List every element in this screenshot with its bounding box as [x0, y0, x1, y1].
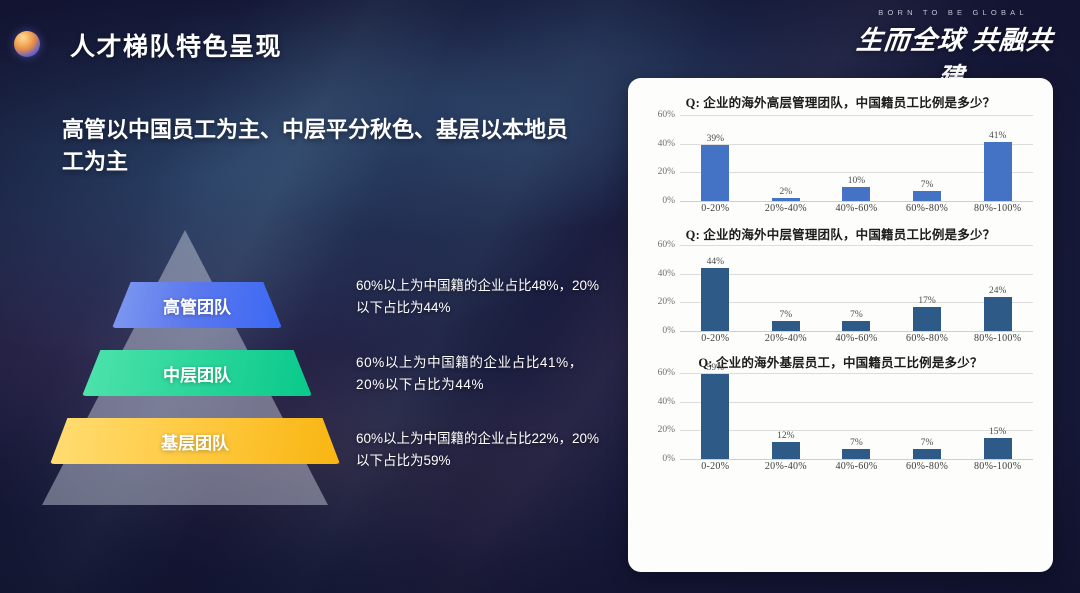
chart-x-tick: 80%-100% — [962, 333, 1033, 344]
chart-bars: 44%7%7%17%24% — [680, 245, 1033, 331]
chart-bar-value-label: 12% — [756, 431, 816, 441]
chart-x-tick: 80%-100% — [962, 203, 1033, 214]
chart-bar-value-label: 24% — [968, 286, 1028, 296]
chart-x-tick: 40%-60% — [821, 461, 892, 472]
chart-bar[interactable] — [772, 442, 800, 459]
chart-x-tick: 60%-80% — [892, 203, 963, 214]
chart-bar[interactable] — [842, 449, 870, 459]
chart-bar-value-label: 2% — [756, 187, 816, 197]
chart-bar[interactable] — [984, 297, 1012, 331]
pyramid-level-executive[interactable]: 高管团队 — [112, 282, 282, 328]
chart-bar-column[interactable]: 7% — [821, 245, 892, 331]
chart-bar-column[interactable]: 15% — [962, 373, 1033, 459]
chart-y-tick: 60% — [658, 110, 675, 120]
chart-bar-value-label: 41% — [968, 131, 1028, 141]
chart-bar-column[interactable]: 17% — [892, 245, 963, 331]
description-frontline: 60%以上为中国籍的企业占比22%，20%以下占比为59% — [356, 428, 601, 473]
headline-text: 高管以中国员工为主、中层平分秋色、基层以本地员工为主 — [62, 114, 582, 178]
chart-bar-value-label: 7% — [826, 310, 886, 320]
chart-bar[interactable] — [701, 268, 729, 331]
chart-bar-column[interactable]: 39% — [680, 115, 751, 201]
chart-bar-column[interactable]: 7% — [892, 115, 963, 201]
chart-bar-column[interactable]: 59% — [680, 373, 751, 459]
pyramid-level-frontline-label: 基层团队 — [161, 429, 229, 454]
chart-x-axis: 0-20%20%-40%40%-60%60%-80%80%-100% — [680, 333, 1033, 344]
chart-bar[interactable] — [913, 191, 941, 201]
chart-y-axis: 60%40%20%0% — [644, 373, 678, 459]
chart-bar-column[interactable]: 12% — [751, 373, 822, 459]
chart-y-tick: 60% — [658, 368, 675, 378]
chart-bar[interactable] — [772, 198, 800, 201]
chart-gridline — [680, 459, 1033, 460]
chart-x-tick: 20%-40% — [751, 333, 822, 344]
chart-x-tick: 40%-60% — [821, 333, 892, 344]
chart-x-axis: 0-20%20%-40%40%-60%60%-80%80%-100% — [680, 203, 1033, 214]
chart-x-axis: 0-20%20%-40%40%-60%60%-80%80%-100% — [680, 461, 1033, 472]
chart-y-tick: 0% — [662, 454, 675, 464]
chart-block-executive: Q: 企业的海外高层管理团队，中国籍员工比例是多少？ 60%40%20%0%39… — [638, 92, 1043, 220]
chart-plot-executive: 60%40%20%0%39%2%10%7%41%0-20%20%-40%40%-… — [644, 115, 1035, 220]
chart-bar-value-label: 15% — [968, 427, 1028, 437]
chart-y-axis: 60%40%20%0% — [644, 245, 678, 331]
chart-y-axis: 60%40%20%0% — [644, 115, 678, 201]
chart-gridline — [680, 201, 1033, 202]
chart-y-tick: 20% — [658, 167, 675, 177]
chart-bar[interactable] — [842, 321, 870, 331]
chart-y-tick: 20% — [658, 425, 675, 435]
talent-pyramid-diagram: 高管团队 中层团队 基层团队 — [40, 225, 330, 515]
chart-bar-column[interactable]: 44% — [680, 245, 751, 331]
chart-bar-column[interactable]: 10% — [821, 115, 892, 201]
chart-title-middle: Q: 企业的海外中层管理团队，中国籍员工比例是多少？ — [638, 224, 1043, 243]
chart-x-tick: 0-20% — [680, 333, 751, 344]
chart-title-executive: Q: 企业的海外高层管理团队，中国籍员工比例是多少？ — [638, 92, 1043, 111]
chart-bar-value-label: 7% — [826, 438, 886, 448]
chart-bar[interactable] — [984, 142, 1012, 201]
charts-panel: Q: 企业的海外高层管理团队，中国籍员工比例是多少？ 60%40%20%0%39… — [628, 78, 1053, 572]
chart-y-tick: 40% — [658, 397, 675, 407]
chart-bar-value-label: 7% — [756, 310, 816, 320]
chart-bar-value-label: 7% — [897, 180, 957, 190]
pyramid-level-middle[interactable]: 中层团队 — [82, 350, 312, 396]
chart-y-tick: 40% — [658, 139, 675, 149]
chart-bar-column[interactable]: 2% — [751, 115, 822, 201]
chart-bar-column[interactable]: 24% — [962, 245, 1033, 331]
chart-bar-value-label: 59% — [685, 363, 745, 373]
chart-bars: 39%2%10%7%41% — [680, 115, 1033, 201]
chart-bar[interactable] — [913, 307, 941, 331]
chart-x-tick: 20%-40% — [751, 461, 822, 472]
pyramid-level-frontline[interactable]: 基层团队 — [50, 418, 340, 464]
chart-y-tick: 60% — [658, 240, 675, 250]
chart-block-frontline: Q: 企业的海外基层员工，中国籍员工比例是多少？ 60%40%20%0%59%1… — [638, 352, 1043, 481]
gradient-sphere-bullet-icon — [14, 31, 40, 57]
pyramid-level-middle-label: 中层团队 — [163, 361, 231, 386]
chart-block-middle: Q: 企业的海外中层管理团队，中国籍员工比例是多少？ 60%40%20%0%44… — [638, 224, 1043, 350]
chart-y-tick: 40% — [658, 269, 675, 279]
chart-y-tick: 20% — [658, 297, 675, 307]
chart-x-tick: 0-20% — [680, 461, 751, 472]
chart-x-tick: 40%-60% — [821, 203, 892, 214]
description-middle: 60%以上为中国籍的企业占比41%，20%以下占比为44% — [356, 352, 601, 397]
chart-bar-value-label: 44% — [685, 257, 745, 267]
chart-bar[interactable] — [772, 321, 800, 331]
chart-x-tick: 0-20% — [680, 203, 751, 214]
description-executive: 60%以上为中国籍的企业占比48%，20%以下占比为44% — [356, 275, 601, 320]
slide-header: 人才梯队特色呈现 BORN TO BE GLOBAL 生而全球 共融共建 — [0, 0, 1080, 78]
chart-gridline — [680, 331, 1033, 332]
chart-bar[interactable] — [701, 145, 729, 201]
chart-bar-value-label: 39% — [685, 134, 745, 144]
chart-y-tick: 0% — [662, 326, 675, 336]
chart-bar-column[interactable]: 7% — [892, 373, 963, 459]
chart-plot-middle: 60%40%20%0%44%7%7%17%24%0-20%20%-40%40%-… — [644, 245, 1035, 350]
chart-y-tick: 0% — [662, 196, 675, 206]
chart-bar[interactable] — [842, 187, 870, 201]
chart-bar[interactable] — [913, 449, 941, 459]
chart-bar-column[interactable]: 7% — [821, 373, 892, 459]
page-title: 人才梯队特色呈现 — [70, 27, 282, 63]
chart-bar-column[interactable]: 41% — [962, 115, 1033, 201]
chart-bar-value-label: 10% — [826, 176, 886, 186]
chart-x-tick: 80%-100% — [962, 461, 1033, 472]
chart-plot-frontline: 60%40%20%0%59%12%7%7%15%0-20%20%-40%40%-… — [644, 373, 1035, 481]
chart-bars: 59%12%7%7%15% — [680, 373, 1033, 459]
pyramid-level-executive-label: 高管团队 — [163, 293, 231, 318]
chart-x-tick: 20%-40% — [751, 203, 822, 214]
chart-bar-value-label: 17% — [897, 296, 957, 306]
chart-bar[interactable] — [701, 374, 729, 459]
chart-bar[interactable] — [984, 438, 1012, 460]
logo-tagline-en: BORN TO BE GLOBAL — [848, 8, 1058, 17]
chart-x-tick: 60%-80% — [892, 333, 963, 344]
chart-bar-value-label: 7% — [897, 438, 957, 448]
chart-bar-column[interactable]: 7% — [751, 245, 822, 331]
chart-x-tick: 60%-80% — [892, 461, 963, 472]
